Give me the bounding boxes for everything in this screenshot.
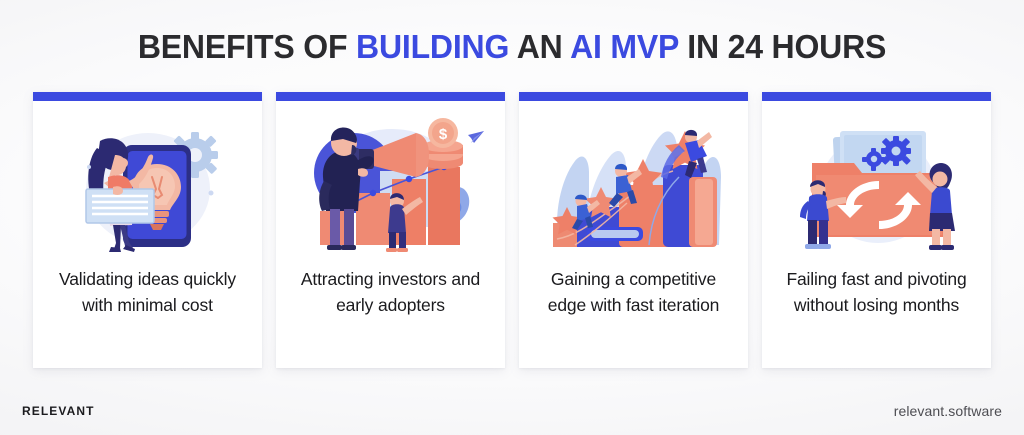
benefit-card-validating-ideas: Validating ideas quickly with minimal co… xyxy=(33,92,262,368)
title-part-1: BENEFITS OF xyxy=(138,28,356,65)
svg-text:$: $ xyxy=(438,126,447,143)
card-caption: Attracting investors and early adopters xyxy=(293,267,489,318)
illustration-folder-refresh-people-icon xyxy=(782,115,972,255)
card-accent-bar xyxy=(33,92,262,101)
title-part-3: IN 24 HOURS xyxy=(679,28,887,65)
illustration-woman-document-phone-lightbulb-icon xyxy=(53,115,243,255)
benefit-card-competitive-edge: Gaining a competitive edge with fast ite… xyxy=(519,92,748,368)
footer-brand: RELEVANT xyxy=(22,404,95,418)
card-caption: Validating ideas quickly with minimal co… xyxy=(50,267,246,318)
card-caption: Failing fast and pivoting without losing… xyxy=(779,267,975,318)
title-highlight-building: BUILDING xyxy=(356,28,509,65)
benefit-card-attracting-investors: $ xyxy=(276,92,505,368)
title-part-2: AN xyxy=(509,28,570,65)
card-accent-bar xyxy=(762,92,991,101)
benefit-cards-row: Validating ideas quickly with minimal co… xyxy=(33,92,991,368)
infographic-root: BENEFITS OF BUILDING AN AI MVP IN 24 HOU… xyxy=(0,0,1024,435)
illustration-megaphone-bar-chart-coins-icon: $ xyxy=(296,115,486,255)
card-accent-bar xyxy=(519,92,748,101)
card-caption: Gaining a competitive edge with fast ite… xyxy=(536,267,732,318)
title-highlight-ai-mvp: AI MVP xyxy=(570,28,679,65)
footer-website: relevant.software xyxy=(894,403,1002,419)
illustration-climbers-stars-stairs-icon xyxy=(539,115,729,255)
page-title: BENEFITS OF BUILDING AN AI MVP IN 24 HOU… xyxy=(15,28,1008,66)
benefit-card-failing-fast: Failing fast and pivoting without losing… xyxy=(762,92,991,368)
card-accent-bar xyxy=(276,92,505,101)
